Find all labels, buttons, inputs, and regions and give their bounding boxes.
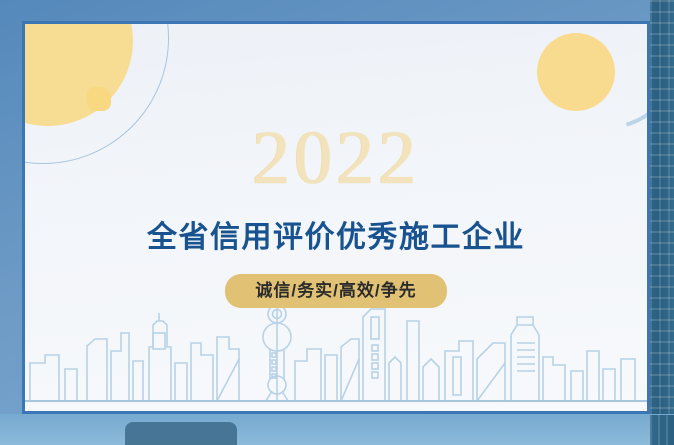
bottom-water-band: [0, 414, 674, 445]
bottom-dark-silhouette: [125, 422, 237, 445]
inner-frame-border: [22, 21, 650, 414]
right-building-lower: [650, 415, 674, 445]
award-poster: 2022 全省信用评价优秀施工企业 诚信/务实/高效/争先: [0, 0, 674, 445]
right-building-silhouette: [650, 0, 674, 418]
